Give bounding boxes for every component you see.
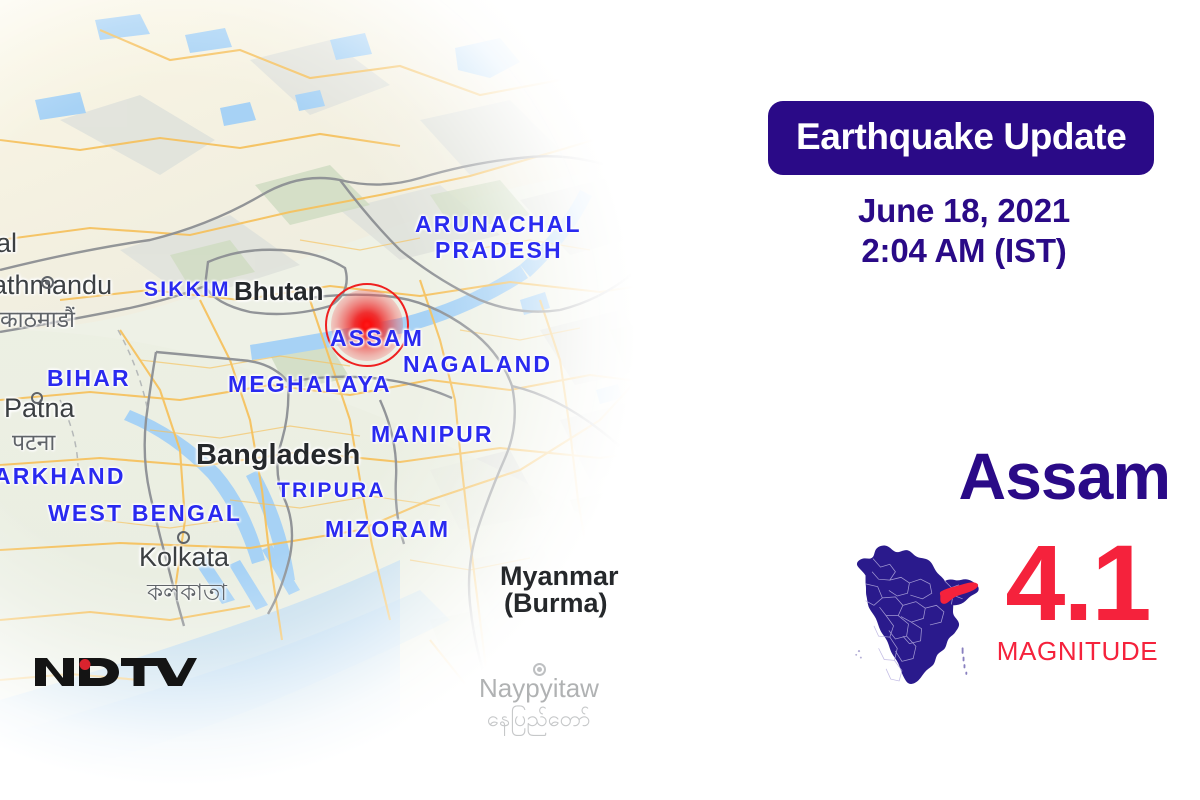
event-date: June 18, 2021 [768,191,1160,231]
map-city-dot-kolkata [177,531,190,544]
earthquake-update-badge: Earthquake Update [768,101,1154,175]
ndtv-logo [33,650,198,692]
andaman-islands [962,647,968,675]
magnitude-block: 4.1 MAGNITUDE [975,533,1180,667]
magnitude-label: MAGNITUDE [975,636,1180,667]
map-city-dot-athmandu [41,276,54,289]
india-silhouette [857,546,979,684]
map-city-dot-patna [31,392,43,404]
india-inset-map [845,530,985,690]
map-city-dot-naypyitaw [533,663,546,676]
magnitude-value: 4.1 [975,533,1180,632]
ndtv-red-dot [80,659,91,670]
lakshadweep-islands [855,650,862,659]
event-time: 2:04 AM (IST) [768,231,1160,271]
page-title-state: Assam [700,443,1170,509]
earthquake-update-graphic: ARUNACHALPRADESHSIKKIMASSAMNAGALANDMEGHA… [0,0,1200,800]
event-datetime: June 18, 2021 2:04 AM (IST) [768,191,1160,272]
badge-label: Earthquake Update [796,116,1126,157]
